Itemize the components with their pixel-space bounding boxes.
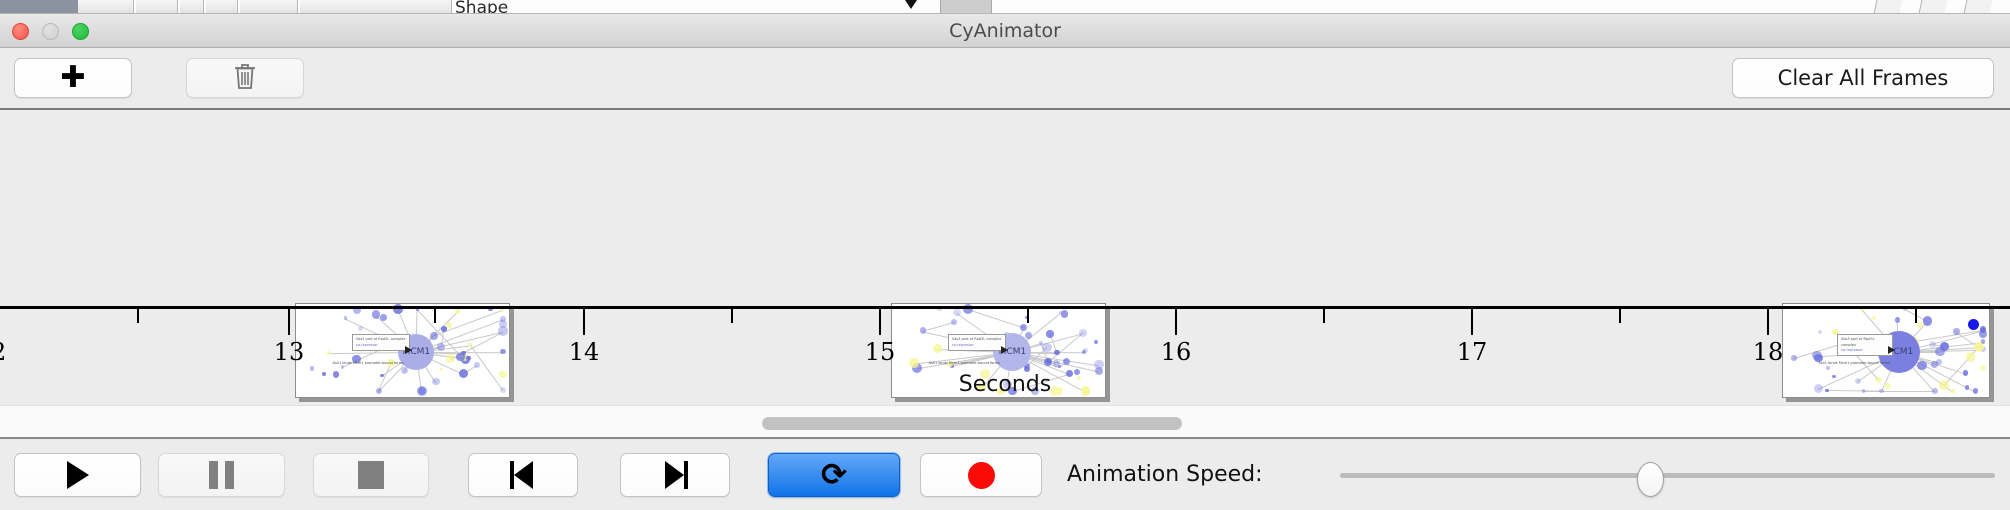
ruler-tick-minor bbox=[1915, 309, 1917, 323]
ruler-tick-minor bbox=[731, 309, 733, 323]
ruler-tick-label: 16 bbox=[1161, 338, 1192, 366]
loop-icon: ⟳ bbox=[821, 460, 847, 491]
previous-frame-button[interactable] bbox=[468, 453, 578, 497]
ruler-tick-label: 13 bbox=[274, 338, 305, 366]
title-bar: CyAnimator bbox=[0, 14, 2010, 48]
background-shape-label: Shape bbox=[455, 0, 508, 14]
background-window-strip: Shape bbox=[0, 0, 2010, 14]
close-light-icon[interactable] bbox=[12, 23, 29, 40]
ruler-tick-minor bbox=[1027, 309, 1029, 323]
timeline-scrollbar[interactable] bbox=[0, 405, 2010, 439]
traffic-lights bbox=[12, 23, 89, 40]
next-frame-button[interactable] bbox=[620, 453, 730, 497]
background-tab bbox=[206, 0, 238, 14]
ruler-tick-minor bbox=[1619, 309, 1621, 323]
ruler-tick-major bbox=[1471, 309, 1473, 335]
add-frame-button[interactable]: ✚ bbox=[14, 58, 132, 98]
background-tab bbox=[240, 0, 298, 14]
background-slant bbox=[1964, 0, 1993, 14]
background-slant bbox=[1874, 0, 1903, 14]
ruler-baseline bbox=[0, 306, 2010, 309]
ruler-tick-major bbox=[1767, 309, 1769, 335]
skip-forward-icon bbox=[661, 461, 689, 489]
minimize-light-icon[interactable] bbox=[42, 23, 59, 40]
cyanimator-window: Shape CyAnimator ✚ bbox=[0, 0, 2010, 510]
background-slant bbox=[1919, 0, 1948, 14]
play-button[interactable] bbox=[14, 453, 141, 497]
record-button[interactable] bbox=[920, 453, 1042, 497]
scrollbar-thumb[interactable] bbox=[762, 417, 1182, 430]
animation-speed-label: Animation Speed: bbox=[1067, 453, 1263, 497]
playback-bar: ⟳ Animation Speed: bbox=[0, 441, 2010, 510]
ruler-tick-label: 15 bbox=[865, 338, 896, 366]
ruler-tick-minor bbox=[137, 309, 139, 323]
frame-toolbar: ✚ Clear All Frames bbox=[0, 48, 2010, 110]
delete-frame-button[interactable] bbox=[186, 58, 304, 98]
background-tab bbox=[300, 0, 452, 14]
loop-button[interactable]: ⟳ bbox=[768, 453, 900, 497]
window-title: CyAnimator bbox=[0, 14, 2010, 48]
ruler-tick-label: 12 bbox=[0, 338, 6, 366]
ruler-tick-minor bbox=[1323, 309, 1325, 323]
ruler-tick-major bbox=[879, 309, 881, 335]
pause-icon bbox=[209, 461, 234, 489]
ruler-tick-major bbox=[583, 309, 585, 335]
skip-back-icon bbox=[509, 461, 537, 489]
pause-button[interactable] bbox=[158, 453, 285, 497]
slider-track bbox=[1340, 473, 1995, 478]
trash-icon bbox=[232, 61, 258, 95]
record-icon bbox=[968, 462, 995, 489]
ruler-tick-label: 14 bbox=[569, 338, 600, 366]
ruler-tick-label: 17 bbox=[1457, 338, 1488, 366]
background-notch-icon bbox=[905, 0, 917, 9]
timeline-ruler[interactable]: 12131415161718 Seconds bbox=[0, 306, 2010, 405]
play-icon bbox=[67, 461, 89, 489]
background-tab bbox=[78, 0, 134, 14]
plus-icon: ✚ bbox=[60, 63, 85, 93]
background-tab bbox=[136, 0, 178, 14]
clear-all-frames-label: Clear All Frames bbox=[1778, 66, 1949, 90]
ruler-tick-minor bbox=[434, 309, 436, 323]
axis-title: Seconds bbox=[0, 372, 2010, 397]
ruler-tick-major bbox=[288, 309, 290, 335]
clear-all-frames-button[interactable]: Clear All Frames bbox=[1732, 58, 1994, 98]
background-dark-block bbox=[0, 0, 78, 14]
slider-thumb[interactable] bbox=[1637, 462, 1664, 497]
stop-icon bbox=[358, 461, 384, 489]
ruler-tick-major bbox=[1175, 309, 1177, 335]
stop-button[interactable] bbox=[313, 453, 429, 497]
timeline-panel[interactable]: MCM1Sds3 part of Rpd3L complexco-repress… bbox=[0, 110, 2010, 405]
ruler-tick-label: 18 bbox=[1753, 338, 1784, 366]
background-grey-block bbox=[940, 0, 992, 14]
background-tab bbox=[180, 0, 204, 14]
animation-speed-slider[interactable] bbox=[1340, 453, 1995, 497]
maximize-light-icon[interactable] bbox=[72, 23, 89, 40]
